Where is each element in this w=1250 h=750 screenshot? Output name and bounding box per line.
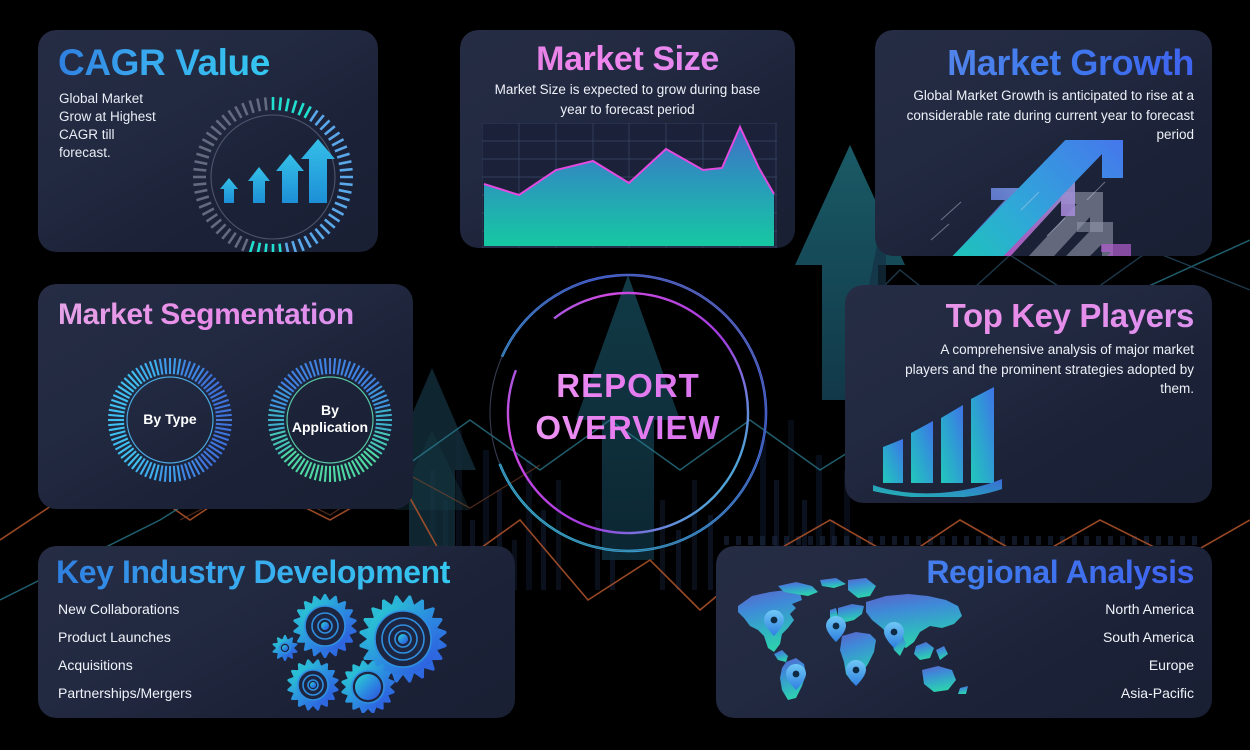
market-growth-subtitle: Global Market Growth is anticipated to r…	[897, 86, 1194, 145]
dial-label-by-type: By Type	[104, 411, 236, 428]
development-item-3: Partnerships/Mergers	[58, 685, 192, 701]
cagr-line-1: Global Market	[59, 90, 143, 108]
region-item-3: Asia-Pacific	[1121, 685, 1194, 701]
dial-by-type: By Type	[104, 354, 236, 486]
overview-line-1: REPORT	[483, 366, 773, 406]
card-title-market-growth: Market Growth	[875, 42, 1194, 84]
overview-line-2: OVERVIEW	[483, 408, 773, 448]
development-item-2: Acquisitions	[58, 657, 133, 673]
region-item-0: North America	[1105, 601, 1194, 617]
card-market-segmentation[interactable]: Market Segmentation By Type	[38, 284, 413, 509]
infographic-canvas: CAGR Value Global Market Grow at Highest…	[0, 0, 1250, 750]
market-size-subtitle: Market Size is expected to grow during b…	[486, 80, 769, 119]
cagr-line-2: Grow at Highest	[59, 108, 156, 126]
bar-chart-icon	[867, 385, 1012, 497]
world-map-pins-icon	[730, 574, 976, 704]
card-key-industry-development[interactable]: Key Industry Development New Collaborati…	[38, 546, 515, 718]
bar-chart-bars	[883, 387, 994, 483]
cagr-line-3: CAGR till	[59, 126, 115, 144]
card-content: Market Size Market Size is expected to g…	[460, 30, 795, 248]
area-chart-icon	[482, 123, 777, 248]
card-content: Top Key Players A comprehensive analysis…	[845, 285, 1212, 503]
card-title-market-size: Market Size	[460, 40, 795, 79]
card-content: Market Growth Global Market Growth is an…	[875, 30, 1212, 256]
gears-cluster-icon	[263, 591, 463, 713]
rising-arrows-icon	[927, 140, 1167, 256]
card-title-cagr: CAGR Value	[58, 42, 270, 84]
dial-by-application: By Application	[264, 354, 396, 486]
region-item-2: Europe	[1149, 657, 1194, 673]
card-content: CAGR Value Global Market Grow at Highest…	[38, 30, 378, 252]
card-content: Key Industry Development New Collaborati…	[38, 546, 515, 718]
development-item-1: Product Launches	[58, 629, 171, 645]
card-content: Market Segmentation By Type	[38, 284, 413, 509]
development-item-0: New Collaborations	[58, 601, 179, 617]
report-overview-hub[interactable]: REPORT OVERVIEW	[483, 268, 773, 558]
card-title-market-segmentation: Market Segmentation	[58, 298, 354, 332]
card-market-growth[interactable]: Market Growth Global Market Growth is an…	[875, 30, 1212, 256]
bg-tick-strip	[718, 536, 1208, 545]
card-cagr-value[interactable]: CAGR Value Global Market Grow at Highest…	[38, 30, 378, 252]
card-content: Regional Analysis North America South Am…	[716, 546, 1212, 718]
region-item-1: South America	[1103, 629, 1194, 645]
ascending-arrows-dial-icon	[181, 85, 366, 252]
card-title-top-key-players: Top Key Players	[845, 297, 1194, 335]
cagr-line-4: forecast.	[59, 144, 111, 162]
card-top-key-players[interactable]: Top Key Players A comprehensive analysis…	[845, 285, 1212, 503]
card-market-size[interactable]: Market Size Market Size is expected to g…	[460, 30, 795, 248]
dial-label-by-application: By Application	[264, 402, 396, 436]
card-regional-analysis[interactable]: Regional Analysis North America South Am…	[716, 546, 1212, 718]
card-title-key-industry-development: Key Industry Development	[56, 554, 450, 591]
